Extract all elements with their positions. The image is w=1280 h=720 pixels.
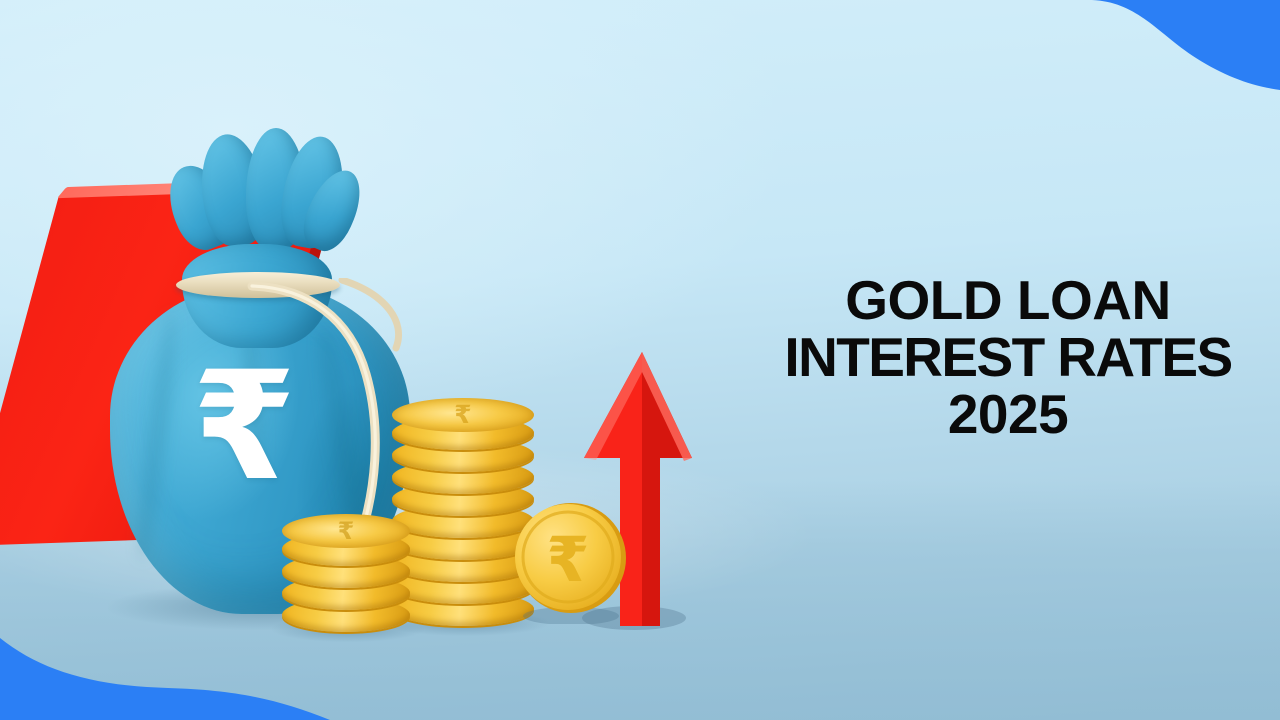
gold-coin-stack-small: ₹ (282, 524, 410, 632)
title-line-2: INTEREST RATES (744, 329, 1272, 386)
svg-text:₹: ₹ (454, 400, 471, 429)
coin-top-face: ₹ (392, 398, 534, 432)
gold-coin-upright: ₹ (512, 502, 630, 624)
blue-wave-top-right (1020, 0, 1280, 110)
page-title: GOLD LOAN INTEREST RATES 2025 (744, 272, 1272, 444)
svg-text:₹: ₹ (338, 517, 355, 545)
title-line-3: 2025 (744, 386, 1272, 443)
svg-text:₹: ₹ (546, 523, 589, 596)
coin-top-face: ₹ (282, 514, 410, 548)
title-line-1: GOLD LOAN (744, 272, 1272, 329)
banner-canvas: ₹ ₹ (0, 0, 1280, 720)
rupee-symbol-on-bag: ₹ (192, 352, 294, 502)
